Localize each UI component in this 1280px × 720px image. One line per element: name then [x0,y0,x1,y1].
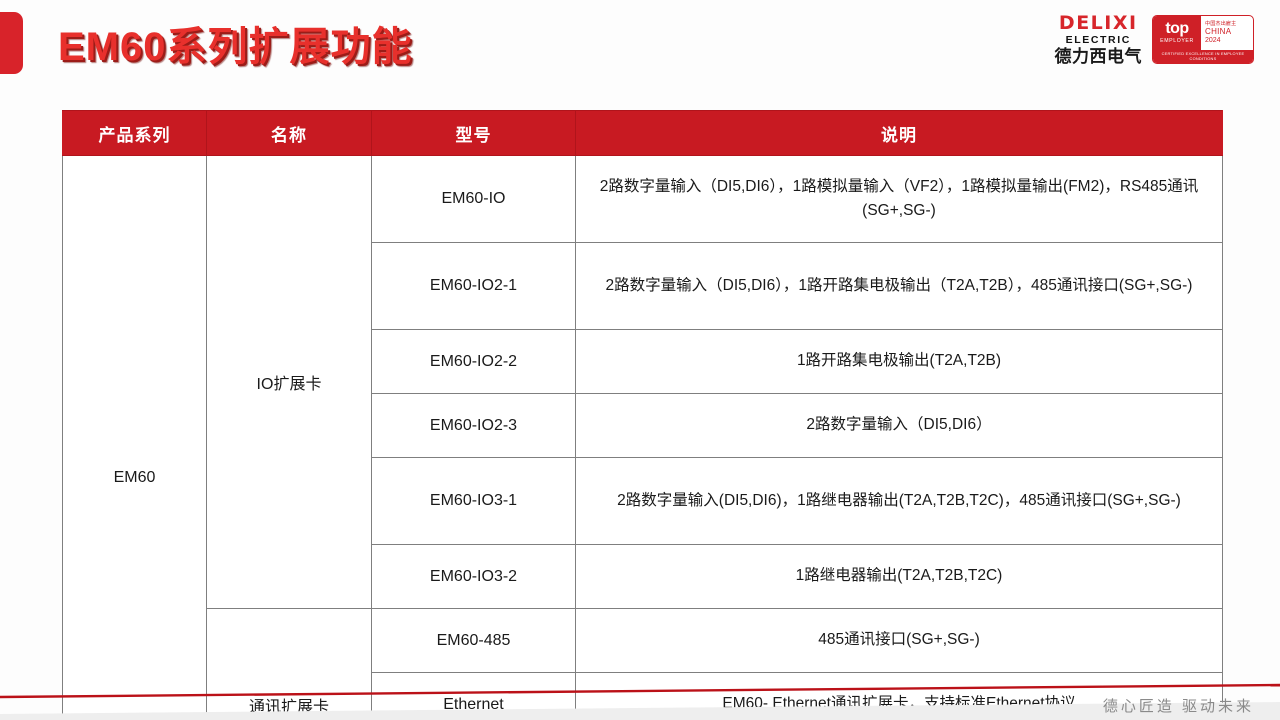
footer-slogan: 德心匠造 驱动未来 [1103,695,1254,716]
cell-description: 2路数字量输入（DI5,DI6），1路模拟量输入（VF2），1路模拟量输出(FM… [576,156,1223,243]
table-header-row: 产品系列 名称 型号 说明 [63,111,1223,156]
table-row: EM60IO扩展卡EM60-IO2路数字量输入（DI5,DI6），1路模拟量输入… [63,156,1223,243]
cell-model: EM60-IO2-2 [372,330,576,394]
top-employer-year: 2024 [1205,37,1253,45]
expansion-function-table: 产品系列 名称 型号 说明 EM60IO扩展卡EM60-IO2路数字量输入（DI… [62,110,1223,720]
delixi-logo: DELIXI ELECTRIC 德力西电气 [1055,14,1143,65]
cell-description: 2路数字量输入(DI5,DI6)，1路继电器输出(T2A,T2B,T2C)，48… [576,458,1223,545]
top-employer-badge-main: top EMPLOYER 中国杰出雇主 CHINA 2024 [1153,16,1253,50]
cell-model: EM60-IO3-1 [372,458,576,545]
cell-description: 2路数字量输入（DI5,DI6） [576,394,1223,458]
title-accent-bar [0,12,23,74]
delixi-wordmark: DELIXI [1059,14,1138,33]
column-header-model: 型号 [372,111,576,156]
cell-description: 2路数字量输入（DI5,DI6），1路开路集电极输出（T2A,T2B），485通… [576,243,1223,330]
top-employer-footer-text: CERTIFIED EXCELLENCE IN EMPLOYEE CONDITI… [1153,50,1253,63]
top-employer-country: CHINA [1205,28,1253,37]
brand-logos: DELIXI ELECTRIC 德力西电气 top EMPLOYER 中国杰出雇… [1055,14,1255,65]
top-employer-employer-text: EMPLOYER [1160,39,1194,44]
top-employer-details: 中国杰出雇主 CHINA 2024 [1201,16,1253,50]
cell-description: 1路开路集电极输出(T2A,T2B) [576,330,1223,394]
cell-group-name: IO扩展卡 [207,156,372,609]
top-employer-top-text: top [1165,21,1188,37]
column-header-description: 说明 [576,111,1223,156]
cell-product-series: EM60 [63,156,207,720]
table-body: EM60IO扩展卡EM60-IO2路数字量输入（DI5,DI6），1路模拟量输入… [63,156,1223,720]
top-employer-badge: top EMPLOYER 中国杰出雇主 CHINA 2024 CERTIFIED… [1152,15,1254,64]
cell-group-name: 通讯扩展卡 [207,609,372,720]
cell-model: EM60-485 [372,609,576,673]
column-header-name: 名称 [207,111,372,156]
slide-canvas: EM60系列扩展功能 DELIXI ELECTRIC 德力西电气 top EMP… [0,0,1280,720]
delixi-subtitle: ELECTRIC [1066,35,1131,46]
column-header-series: 产品系列 [63,111,207,156]
cell-description: 485通讯接口(SG+,SG-) [576,609,1223,673]
delixi-chinese-name: 德力西电气 [1055,48,1143,65]
cell-model: EM60-IO2-1 [372,243,576,330]
cell-model: EM60-IO2-3 [372,394,576,458]
table-row: 通讯扩展卡EM60-485485通讯接口(SG+,SG-) [63,609,1223,673]
cell-model: EM60-IO3-2 [372,545,576,609]
cell-description: 1路继电器输出(T2A,T2B,T2C) [576,545,1223,609]
table-header: 产品系列 名称 型号 说明 [63,111,1223,156]
cell-model: EM60-IO [372,156,576,243]
page-title: EM60系列扩展功能 [58,14,413,72]
top-employer-mark: top EMPLOYER [1153,16,1201,50]
